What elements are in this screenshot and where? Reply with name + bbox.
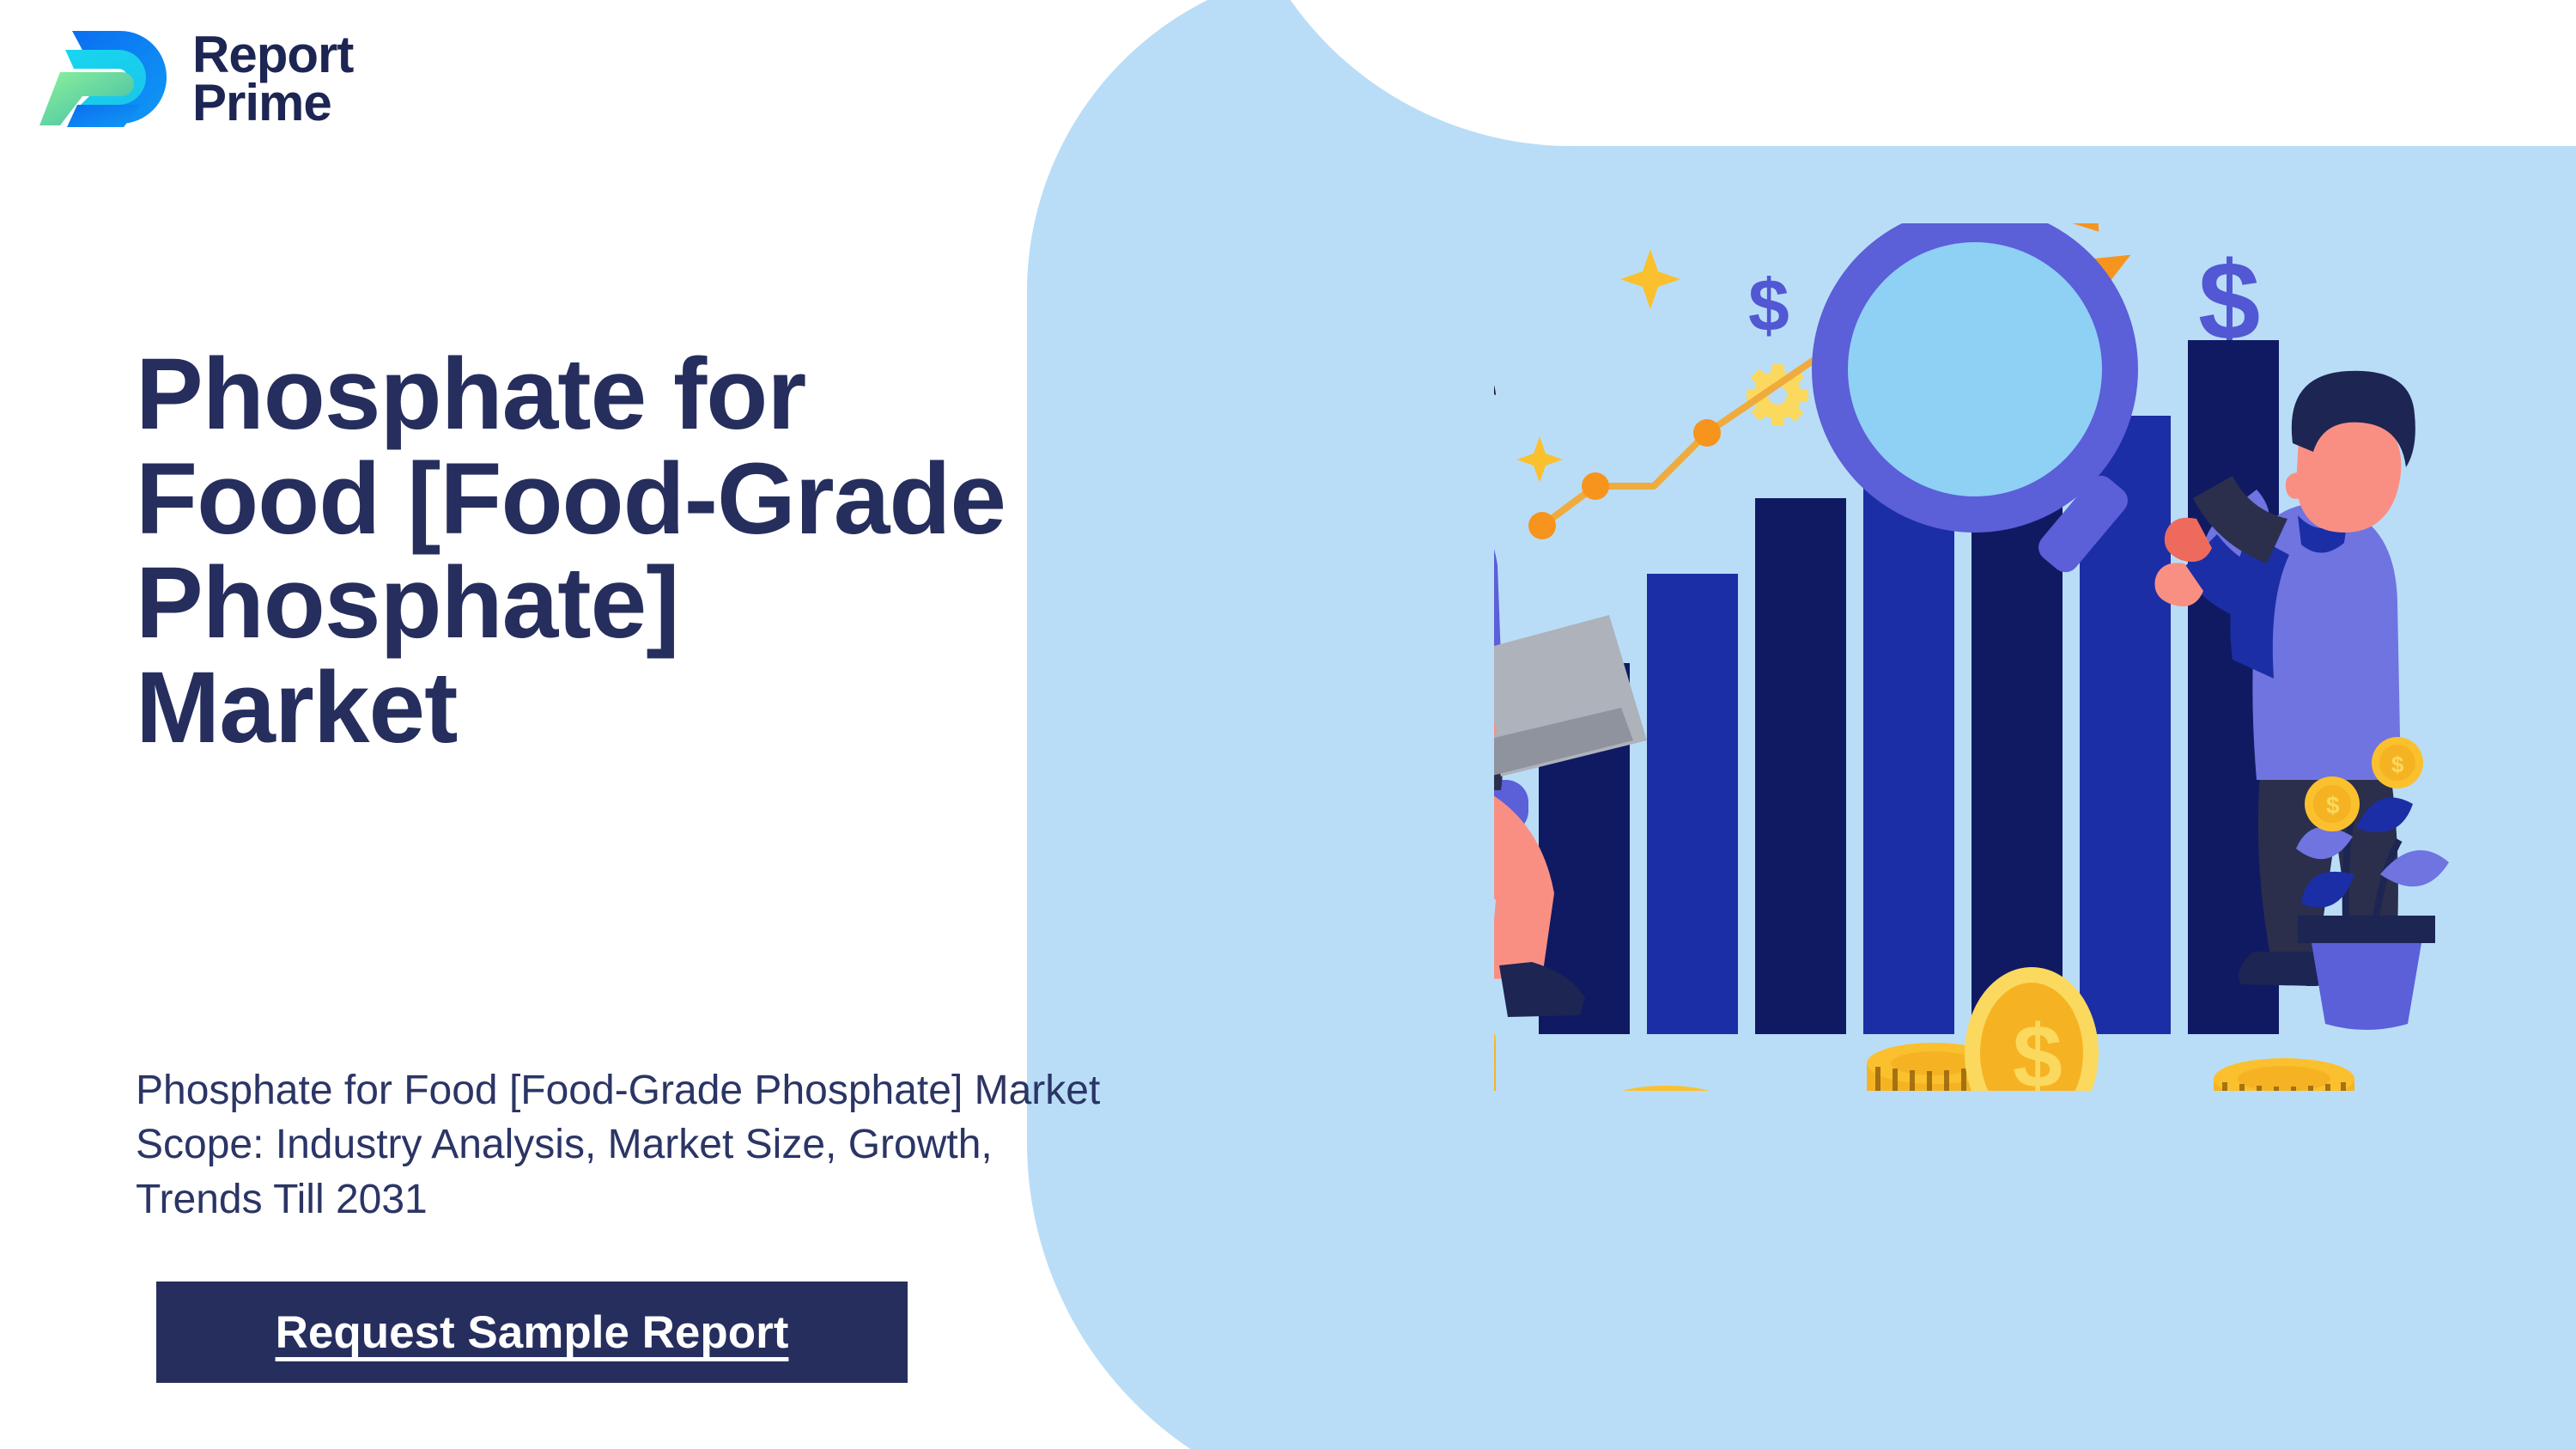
subtitle-line-1: Phosphate for Food [Food-Grade Phosphate… <box>136 1063 1100 1117</box>
page-subtitle: Phosphate for Food [Food-Grade Phosphate… <box>136 1063 1100 1227</box>
bar-3 <box>1755 498 1846 1034</box>
dollar-sign-icon: $ <box>1748 265 1789 347</box>
title-line-4: Market <box>136 656 1005 761</box>
title-line-1: Phosphate for <box>136 343 1005 447</box>
request-sample-report-label: Request Sample Report <box>276 1306 789 1359</box>
bar-2 <box>1647 574 1738 1034</box>
report-prime-logo-icon <box>31 19 179 139</box>
request-sample-report-button[interactable]: Request Sample Report <box>156 1282 908 1383</box>
pot <box>2312 943 2421 1030</box>
coin-stack-1 <box>1494 1015 1496 1091</box>
subtitle-line-2: Scope: Industry Analysis, Market Size, G… <box>136 1117 1100 1172</box>
magnifier-icon <box>1812 223 2138 578</box>
coin-stack-2 <box>1602 1086 1729 1091</box>
subtitle-line-3: Trends Till 2031 <box>136 1172 1100 1227</box>
svg-text:$: $ <box>2391 752 2404 777</box>
brand-logo[interactable]: Report Prime <box>31 19 353 139</box>
title-line-3: Phosphate] <box>136 551 1005 656</box>
pot-rim <box>2298 916 2435 943</box>
sparkle-icon <box>1620 249 1680 309</box>
hair <box>1494 356 1496 423</box>
brand-name: Report Prime <box>192 31 353 128</box>
svg-text:$: $ <box>2013 1008 2063 1091</box>
market-research-illustration: $ $ <box>1494 223 2559 1091</box>
sparkle-icon-small <box>1516 436 1563 483</box>
svg-text:$: $ <box>2326 792 2340 819</box>
page-title: Phosphate for Food [Food-Grade Phosphate… <box>136 343 1005 760</box>
coin-stack-4 <box>2214 1058 2354 1091</box>
title-line-2: Food [Food-Grade <box>136 447 1005 552</box>
poster-canvas: Report Prime Phosphate for Food [Food-Gr… <box>0 0 2576 1449</box>
